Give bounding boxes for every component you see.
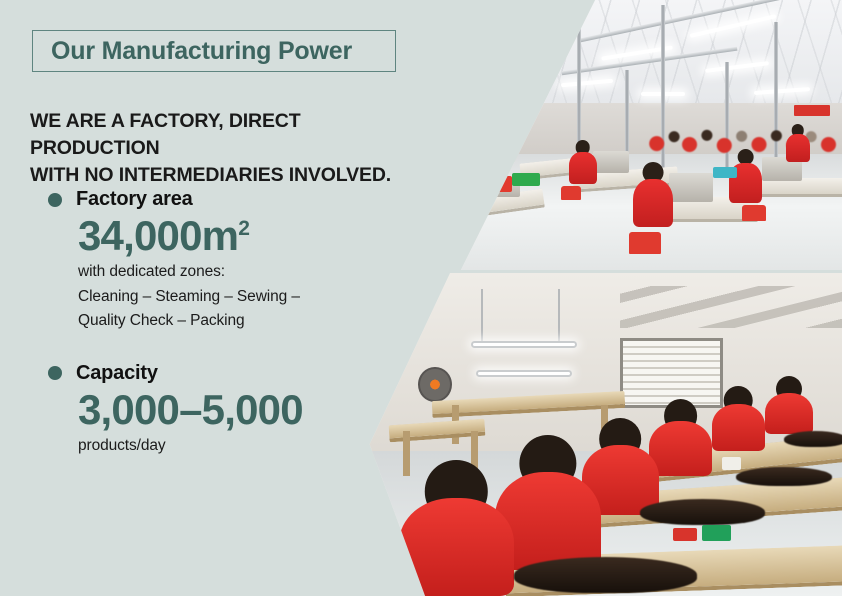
hair-inspection-bench-photo <box>360 273 842 596</box>
photo-inner <box>440 0 842 270</box>
sewing-table <box>754 178 842 197</box>
worker-body <box>633 179 673 227</box>
storage-bin <box>476 176 512 192</box>
stat-note-line-1: products/day <box>78 434 430 458</box>
stats-list: Factory area 34,000m2 with dedicated zon… <box>30 188 430 459</box>
hair-bundle <box>784 431 842 447</box>
stat-note-line-3: Quality Check – Packing <box>78 309 430 333</box>
stat-note: with dedicated zones: Cleaning – Steamin… <box>78 260 430 333</box>
stat-note: products/day <box>78 434 430 458</box>
hair-bundle <box>640 499 765 525</box>
worker <box>765 376 813 434</box>
window <box>620 338 722 409</box>
stat-label: Factory area <box>76 188 193 211</box>
bench-lamp <box>471 341 577 348</box>
stat-value-number: 34,000m <box>78 212 238 259</box>
worker <box>633 162 673 227</box>
supply-box <box>702 525 731 541</box>
worker <box>712 386 765 451</box>
bullet-dot-icon <box>48 366 62 380</box>
stool <box>561 186 581 200</box>
worker <box>786 124 810 162</box>
worker-body <box>569 152 597 184</box>
subheadline: WE ARE A FACTORY, DIRECT PRODUCTION WITH… <box>30 108 430 189</box>
ceiling-duct <box>620 286 842 328</box>
sewing-machine <box>669 173 713 203</box>
slide-root: Our Manufacturing Power WE ARE A FACTORY… <box>0 0 842 596</box>
stat-header: Factory area <box>30 188 430 211</box>
sewing-floor-scene <box>440 0 842 270</box>
subheadline-line-1: WE ARE A FACTORY, DIRECT PRODUCTION <box>30 108 430 162</box>
photo-inner <box>360 273 842 596</box>
hair-bundle <box>514 557 697 593</box>
worker-body <box>765 393 813 435</box>
supply-box <box>722 457 741 470</box>
stat-factory-area: Factory area 34,000m2 with dedicated zon… <box>30 188 430 334</box>
stat-capacity: Capacity 3,000–5,000 products/day <box>30 362 430 459</box>
stool <box>629 232 661 254</box>
worker-body <box>786 134 810 162</box>
stat-value: 3,000–5,000 <box>78 387 430 432</box>
stat-note-line-1: with dedicated zones: <box>78 260 430 284</box>
stat-value: 34,000m2 <box>78 213 430 258</box>
lamp-cord <box>481 289 483 341</box>
stat-value-number: 3,000–5,000 <box>78 386 303 433</box>
worker <box>569 140 597 183</box>
worker-body <box>712 404 765 451</box>
lamp-cord <box>558 289 560 341</box>
text-column: Our Manufacturing Power WE ARE A FACTORY… <box>0 0 430 596</box>
subheadline-line-2: WITH NO INTERMEDIARIES INVOLVED. <box>30 162 430 189</box>
section-title-box: Our Manufacturing Power <box>32 30 396 72</box>
storage-bin <box>512 173 540 187</box>
stat-header: Capacity <box>30 362 430 385</box>
factory-sewing-floor-photo <box>440 0 842 270</box>
page-title: Our Manufacturing Power <box>51 37 352 66</box>
inspection-bench-scene <box>360 273 842 596</box>
bullet-dot-icon <box>48 193 62 207</box>
stat-value-superscript: 2 <box>238 217 250 240</box>
sewing-machine <box>593 151 629 173</box>
stat-label: Capacity <box>76 362 158 385</box>
hair-bundle <box>736 467 832 486</box>
bench-lamp <box>476 370 572 377</box>
storage-bin <box>713 167 737 178</box>
stat-note-line-2: Cleaning – Steaming – Sewing – <box>78 285 430 309</box>
wall-sign <box>794 105 830 116</box>
stool <box>742 205 766 221</box>
supply-box <box>673 528 697 541</box>
